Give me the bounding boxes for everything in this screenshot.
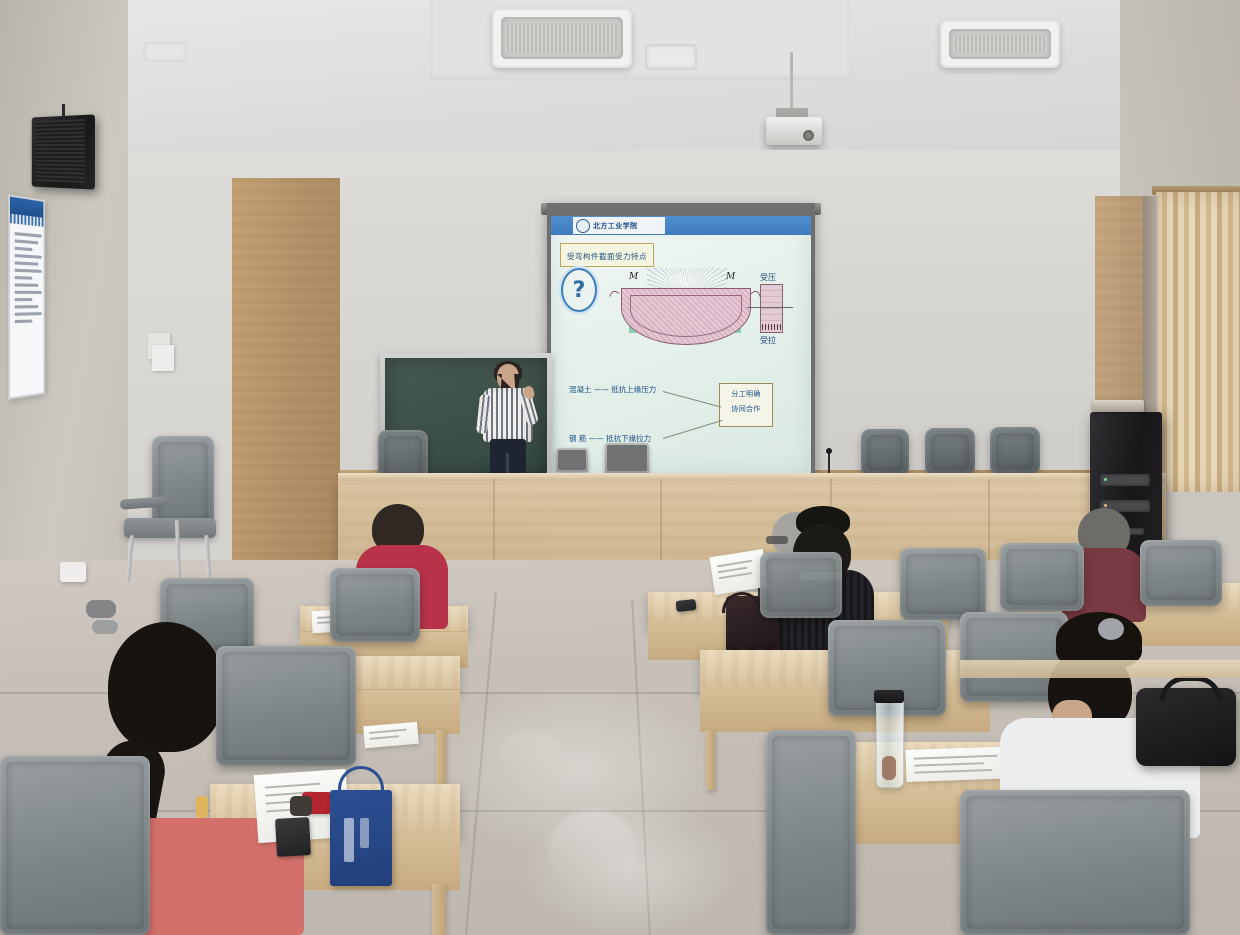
tissue-box (60, 562, 86, 582)
chair-back[interactable] (960, 790, 1190, 935)
question-mark-icon (561, 268, 597, 312)
chair-back[interactable] (900, 548, 986, 620)
chair-back[interactable] (766, 730, 856, 935)
laptop[interactable] (556, 448, 588, 472)
desk-back-edge (960, 660, 1240, 678)
slide-logo: 北方工业学院 (573, 217, 665, 234)
bottle-cap (874, 690, 904, 703)
wall-speaker (32, 114, 95, 189)
chair-back[interactable] (760, 552, 842, 618)
desk-leg (706, 730, 715, 790)
chair-back (925, 428, 975, 476)
ceiling-ac-unit (492, 8, 632, 68)
chair-back (861, 429, 909, 477)
moment-label-left: M (629, 272, 638, 282)
chair-back[interactable] (216, 646, 356, 766)
paper-sheet (363, 722, 419, 749)
tote-bag-print (360, 818, 369, 848)
slide-logo-text: 北方工业学院 (593, 221, 637, 231)
projector-lens (803, 130, 814, 141)
callout-line-2: 协同合作 (720, 404, 772, 414)
window-curtain (1156, 192, 1240, 492)
slide-text-line-1: 混凝土 —— 抵抗上缘压力 (569, 384, 656, 395)
chair-back[interactable] (0, 756, 150, 935)
floor-item (86, 600, 116, 618)
callout-line-1: 分工明确 (720, 389, 772, 399)
callout-box: 分工明确 协同合作 (719, 383, 773, 427)
ceiling-projector (766, 117, 822, 145)
chair-back[interactable] (1000, 543, 1084, 611)
bottle-contents (882, 756, 896, 780)
stress-top-label: 受压 (760, 272, 776, 283)
presenter (477, 364, 539, 482)
chair-back[interactable] (330, 568, 420, 642)
ceiling-vent (645, 44, 697, 70)
wall-notice-board (8, 194, 45, 399)
chair-back (990, 427, 1040, 475)
laptop[interactable] (605, 443, 649, 473)
neutral-axis-line (747, 307, 793, 308)
glasses-icon (766, 536, 788, 544)
ceiling-vent (143, 42, 187, 62)
microphone[interactable] (828, 452, 830, 474)
empty-chair-back[interactable] (152, 436, 214, 528)
slide-title-text: 受弯构件截面受力特点 (567, 252, 647, 261)
stress-bottom-label: 受拉 (760, 335, 776, 346)
leader-line (663, 391, 721, 407)
tote-bag-print (344, 818, 354, 862)
wall-wood-panel (232, 178, 340, 618)
smartphone[interactable] (675, 599, 696, 612)
cross-section-diagram (760, 284, 783, 333)
ceiling-ac-unit (940, 20, 1060, 68)
hair-clip (1098, 618, 1124, 640)
moment-label-right: M (726, 272, 735, 282)
university-seal-icon (576, 219, 590, 233)
chair-back[interactable] (1140, 540, 1222, 606)
cabinet-top-item (1092, 400, 1144, 412)
bent-beam-diagram (621, 288, 749, 343)
projector-bracket (776, 108, 808, 117)
leader-line (663, 420, 723, 439)
speaker-bracket (62, 104, 65, 118)
person-head (108, 622, 224, 752)
empty-chair-seat[interactable] (124, 518, 216, 538)
desk-leg (432, 884, 446, 935)
earring (196, 796, 208, 818)
floor-item (92, 620, 118, 634)
projector-mount-rod (790, 52, 793, 110)
smartphone[interactable] (275, 817, 311, 857)
slide-title-box: 受弯构件截面受力特点 (560, 243, 654, 267)
slide-content: 北方工业学院 受弯构件截面受力特点 M M 受压 受拉 混凝土 —— (551, 216, 811, 474)
wall-sign-holder (152, 345, 174, 371)
lecture-hall-photo: 北方工业学院 受弯构件截面受力特点 M M 受压 受拉 混凝土 —— (0, 0, 1240, 935)
small-dark-item (290, 796, 312, 816)
